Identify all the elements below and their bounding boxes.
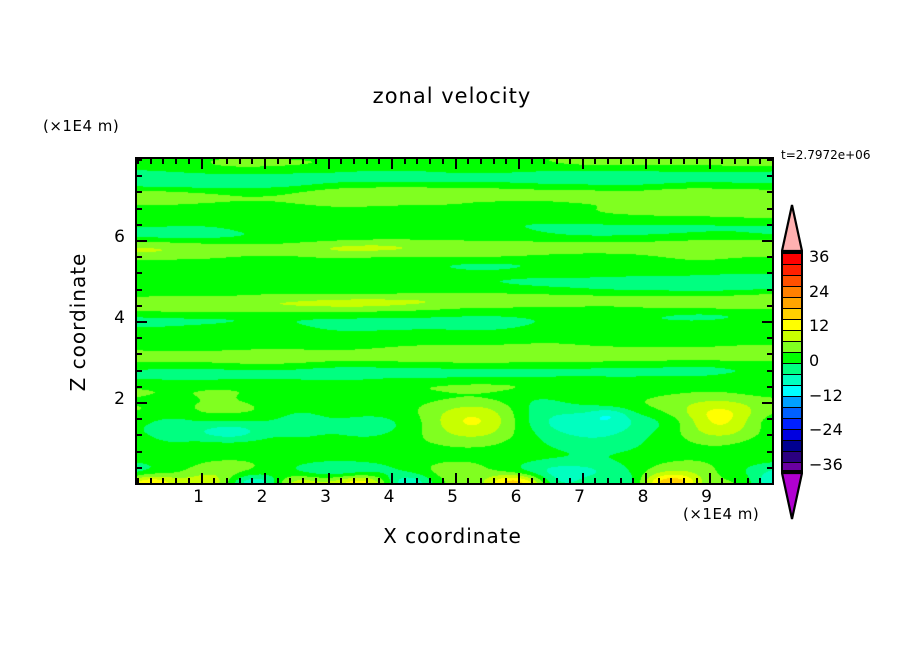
x-tick xyxy=(378,159,380,164)
y-tick xyxy=(767,483,772,485)
y-tick xyxy=(767,208,772,210)
x-tick xyxy=(543,159,545,164)
colorbar-ticklabel: −12 xyxy=(809,386,843,405)
colorbar-band xyxy=(783,254,801,265)
x-tick xyxy=(416,159,418,164)
y-tick xyxy=(137,289,142,291)
x-tick xyxy=(442,159,444,164)
x-tick xyxy=(607,478,609,483)
colorbar-ticklabel: 24 xyxy=(809,282,829,301)
x-tick xyxy=(175,478,177,483)
x-ticklabel: 2 xyxy=(242,487,282,507)
y-tick xyxy=(767,337,772,339)
y-ticklabel: 4 xyxy=(99,308,125,328)
x-tick xyxy=(264,473,266,483)
x-tick xyxy=(188,159,190,164)
colorbar-band xyxy=(783,375,801,386)
x-tick xyxy=(594,159,596,164)
y-tick xyxy=(767,305,772,307)
x-tick xyxy=(340,159,342,164)
x-tick xyxy=(239,478,241,483)
x-tick xyxy=(531,159,533,164)
x-tick xyxy=(734,159,736,164)
x-tick xyxy=(518,473,520,483)
y-tick xyxy=(137,370,142,372)
x-tick xyxy=(416,478,418,483)
colorbar-band xyxy=(783,353,801,364)
x-ticklabel: 8 xyxy=(623,487,663,507)
x-ticklabel: 7 xyxy=(560,487,600,507)
x-tick xyxy=(328,473,330,483)
x-axis-unit-label: (×1E4 m) xyxy=(683,505,759,523)
contour-plot-area xyxy=(135,157,774,485)
x-tick xyxy=(315,478,317,483)
colorbar-band xyxy=(783,276,801,287)
x-tick xyxy=(620,478,622,483)
y-tick xyxy=(137,224,142,226)
y-tick xyxy=(137,240,147,242)
y-tick xyxy=(137,386,142,388)
x-tick xyxy=(277,159,279,164)
x-tick xyxy=(302,159,304,164)
y-tick xyxy=(767,353,772,355)
colorbar-band xyxy=(783,364,801,375)
x-tick xyxy=(759,159,761,164)
x-tick xyxy=(480,478,482,483)
colorbar-ticklabel: 36 xyxy=(809,247,829,266)
y-tick xyxy=(767,256,772,258)
x-tick xyxy=(201,473,203,483)
x-ticklabel: 4 xyxy=(369,487,409,507)
colorbar-band xyxy=(783,463,801,472)
x-tick xyxy=(670,159,672,164)
x-tick xyxy=(594,478,596,483)
x-tick xyxy=(607,159,609,164)
colorbar-band xyxy=(783,441,801,452)
x-tick xyxy=(251,478,253,483)
x-tick xyxy=(213,478,215,483)
x-tick xyxy=(721,478,723,483)
x-ticklabel: 1 xyxy=(179,487,219,507)
y-tick xyxy=(137,305,142,307)
y-tick xyxy=(767,272,772,274)
colorbar-band xyxy=(783,309,801,320)
x-tick xyxy=(213,159,215,164)
y-tick xyxy=(137,272,142,274)
x-tick xyxy=(226,159,228,164)
colorbar-band xyxy=(783,408,801,419)
x-tick xyxy=(670,478,672,483)
y-tick xyxy=(137,402,147,404)
x-tick xyxy=(658,478,660,483)
x-tick xyxy=(150,478,152,483)
x-tick xyxy=(683,478,685,483)
x-tick xyxy=(366,478,368,483)
x-tick xyxy=(645,473,647,483)
x-tick xyxy=(569,478,571,483)
colorbar-band xyxy=(783,419,801,430)
x-tick xyxy=(404,478,406,483)
colorbar-band xyxy=(783,430,801,441)
y-axis-unit-label: (×1E4 m) xyxy=(43,117,119,135)
colorbar-bands xyxy=(781,252,803,472)
x-tick xyxy=(632,159,634,164)
x-tick xyxy=(683,159,685,164)
colorbar-band xyxy=(783,397,801,408)
y-tick xyxy=(137,337,142,339)
x-tick xyxy=(505,159,507,164)
y-tick xyxy=(767,191,772,193)
colorbar-band xyxy=(783,342,801,353)
x-tick xyxy=(747,478,749,483)
colorbar-band xyxy=(783,265,801,276)
x-tick xyxy=(340,478,342,483)
x-tick xyxy=(391,473,393,483)
y-tick xyxy=(762,402,772,404)
y-tick xyxy=(767,467,772,469)
x-tick xyxy=(289,159,291,164)
x-tick xyxy=(289,478,291,483)
x-tick xyxy=(759,478,761,483)
x-tick xyxy=(264,159,266,169)
x-tick xyxy=(353,159,355,164)
y-tick xyxy=(137,483,142,485)
x-tick xyxy=(251,159,253,164)
y-tick xyxy=(137,256,142,258)
x-tick xyxy=(772,159,774,164)
x-tick xyxy=(696,159,698,164)
y-tick xyxy=(767,451,772,453)
x-ticklabel: 9 xyxy=(687,487,727,507)
x-tick xyxy=(162,478,164,483)
y-tick xyxy=(137,467,142,469)
y-tick xyxy=(767,418,772,420)
colorbar-under-arrow-icon xyxy=(781,472,803,520)
y-tick xyxy=(767,434,772,436)
x-tick xyxy=(518,159,520,169)
x-tick xyxy=(239,159,241,164)
y-tick xyxy=(137,159,142,161)
colorbar-ticklabel: 12 xyxy=(809,316,829,335)
x-ticklabel: 5 xyxy=(433,487,473,507)
x-tick xyxy=(442,478,444,483)
x-tick xyxy=(302,478,304,483)
x-tick xyxy=(429,478,431,483)
x-tick xyxy=(429,159,431,164)
x-ticklabel: 3 xyxy=(306,487,346,507)
y-tick xyxy=(767,224,772,226)
colorbar-band xyxy=(783,298,801,309)
x-tick xyxy=(353,478,355,483)
colorbar: 3624120−12−24−36 xyxy=(779,204,809,520)
x-tick xyxy=(175,159,177,164)
x-tick xyxy=(556,478,558,483)
colorbar-band xyxy=(783,386,801,397)
x-tick xyxy=(569,159,571,164)
y-tick xyxy=(137,208,142,210)
x-tick xyxy=(620,159,622,164)
x-tick xyxy=(277,478,279,483)
x-tick xyxy=(543,478,545,483)
x-tick xyxy=(162,159,164,164)
x-tick xyxy=(645,159,647,169)
x-tick xyxy=(455,473,457,483)
x-tick xyxy=(467,478,469,483)
y-tick xyxy=(137,434,142,436)
colorbar-over-arrow-icon xyxy=(781,204,803,252)
x-tick xyxy=(658,159,660,164)
x-tick xyxy=(150,159,152,164)
y-tick xyxy=(767,386,772,388)
x-ticklabel: 6 xyxy=(496,487,536,507)
y-tick xyxy=(767,370,772,372)
y-ticklabel: 6 xyxy=(99,227,125,247)
x-tick xyxy=(493,159,495,164)
x-tick xyxy=(505,478,507,483)
y-tick xyxy=(137,418,142,420)
x-tick xyxy=(315,159,317,164)
x-tick xyxy=(772,478,774,483)
x-tick xyxy=(531,478,533,483)
colorbar-band xyxy=(783,331,801,342)
x-tick xyxy=(201,159,203,169)
colorbar-band xyxy=(783,320,801,331)
x-tick xyxy=(696,478,698,483)
colorbar-band xyxy=(783,452,801,463)
x-tick xyxy=(391,159,393,169)
y-ticklabel: 2 xyxy=(99,389,125,409)
x-tick xyxy=(709,473,711,483)
x-tick xyxy=(404,159,406,164)
x-tick xyxy=(709,159,711,169)
colorbar-band xyxy=(783,287,801,298)
x-tick xyxy=(226,478,228,483)
y-tick xyxy=(767,159,772,161)
x-tick xyxy=(467,159,469,164)
contour-field xyxy=(137,159,772,483)
colorbar-ticklabel: −24 xyxy=(809,420,843,439)
colorbar-ticklabel: 0 xyxy=(809,351,819,370)
y-tick xyxy=(762,240,772,242)
x-axis-title: X coordinate xyxy=(135,524,770,548)
colorbar-ticklabel: −36 xyxy=(809,455,843,474)
x-tick xyxy=(455,159,457,169)
x-tick xyxy=(493,478,495,483)
page-title: zonal velocity xyxy=(0,84,904,108)
x-tick xyxy=(582,473,584,483)
x-tick xyxy=(480,159,482,164)
y-tick xyxy=(762,321,772,323)
x-tick xyxy=(378,478,380,483)
x-tick xyxy=(747,159,749,164)
x-tick xyxy=(556,159,558,164)
x-tick xyxy=(328,159,330,169)
y-axis-title: Z coordinate xyxy=(66,222,90,422)
y-tick xyxy=(137,451,142,453)
y-tick xyxy=(767,175,772,177)
x-tick xyxy=(188,478,190,483)
y-tick xyxy=(767,289,772,291)
y-tick xyxy=(137,175,142,177)
x-tick xyxy=(721,159,723,164)
x-tick xyxy=(582,159,584,169)
y-tick xyxy=(137,321,147,323)
y-tick xyxy=(137,191,142,193)
x-tick xyxy=(366,159,368,164)
x-tick xyxy=(734,478,736,483)
y-tick xyxy=(137,353,142,355)
x-tick xyxy=(632,478,634,483)
time-annotation: t=2.7972e+06 xyxy=(781,148,870,162)
